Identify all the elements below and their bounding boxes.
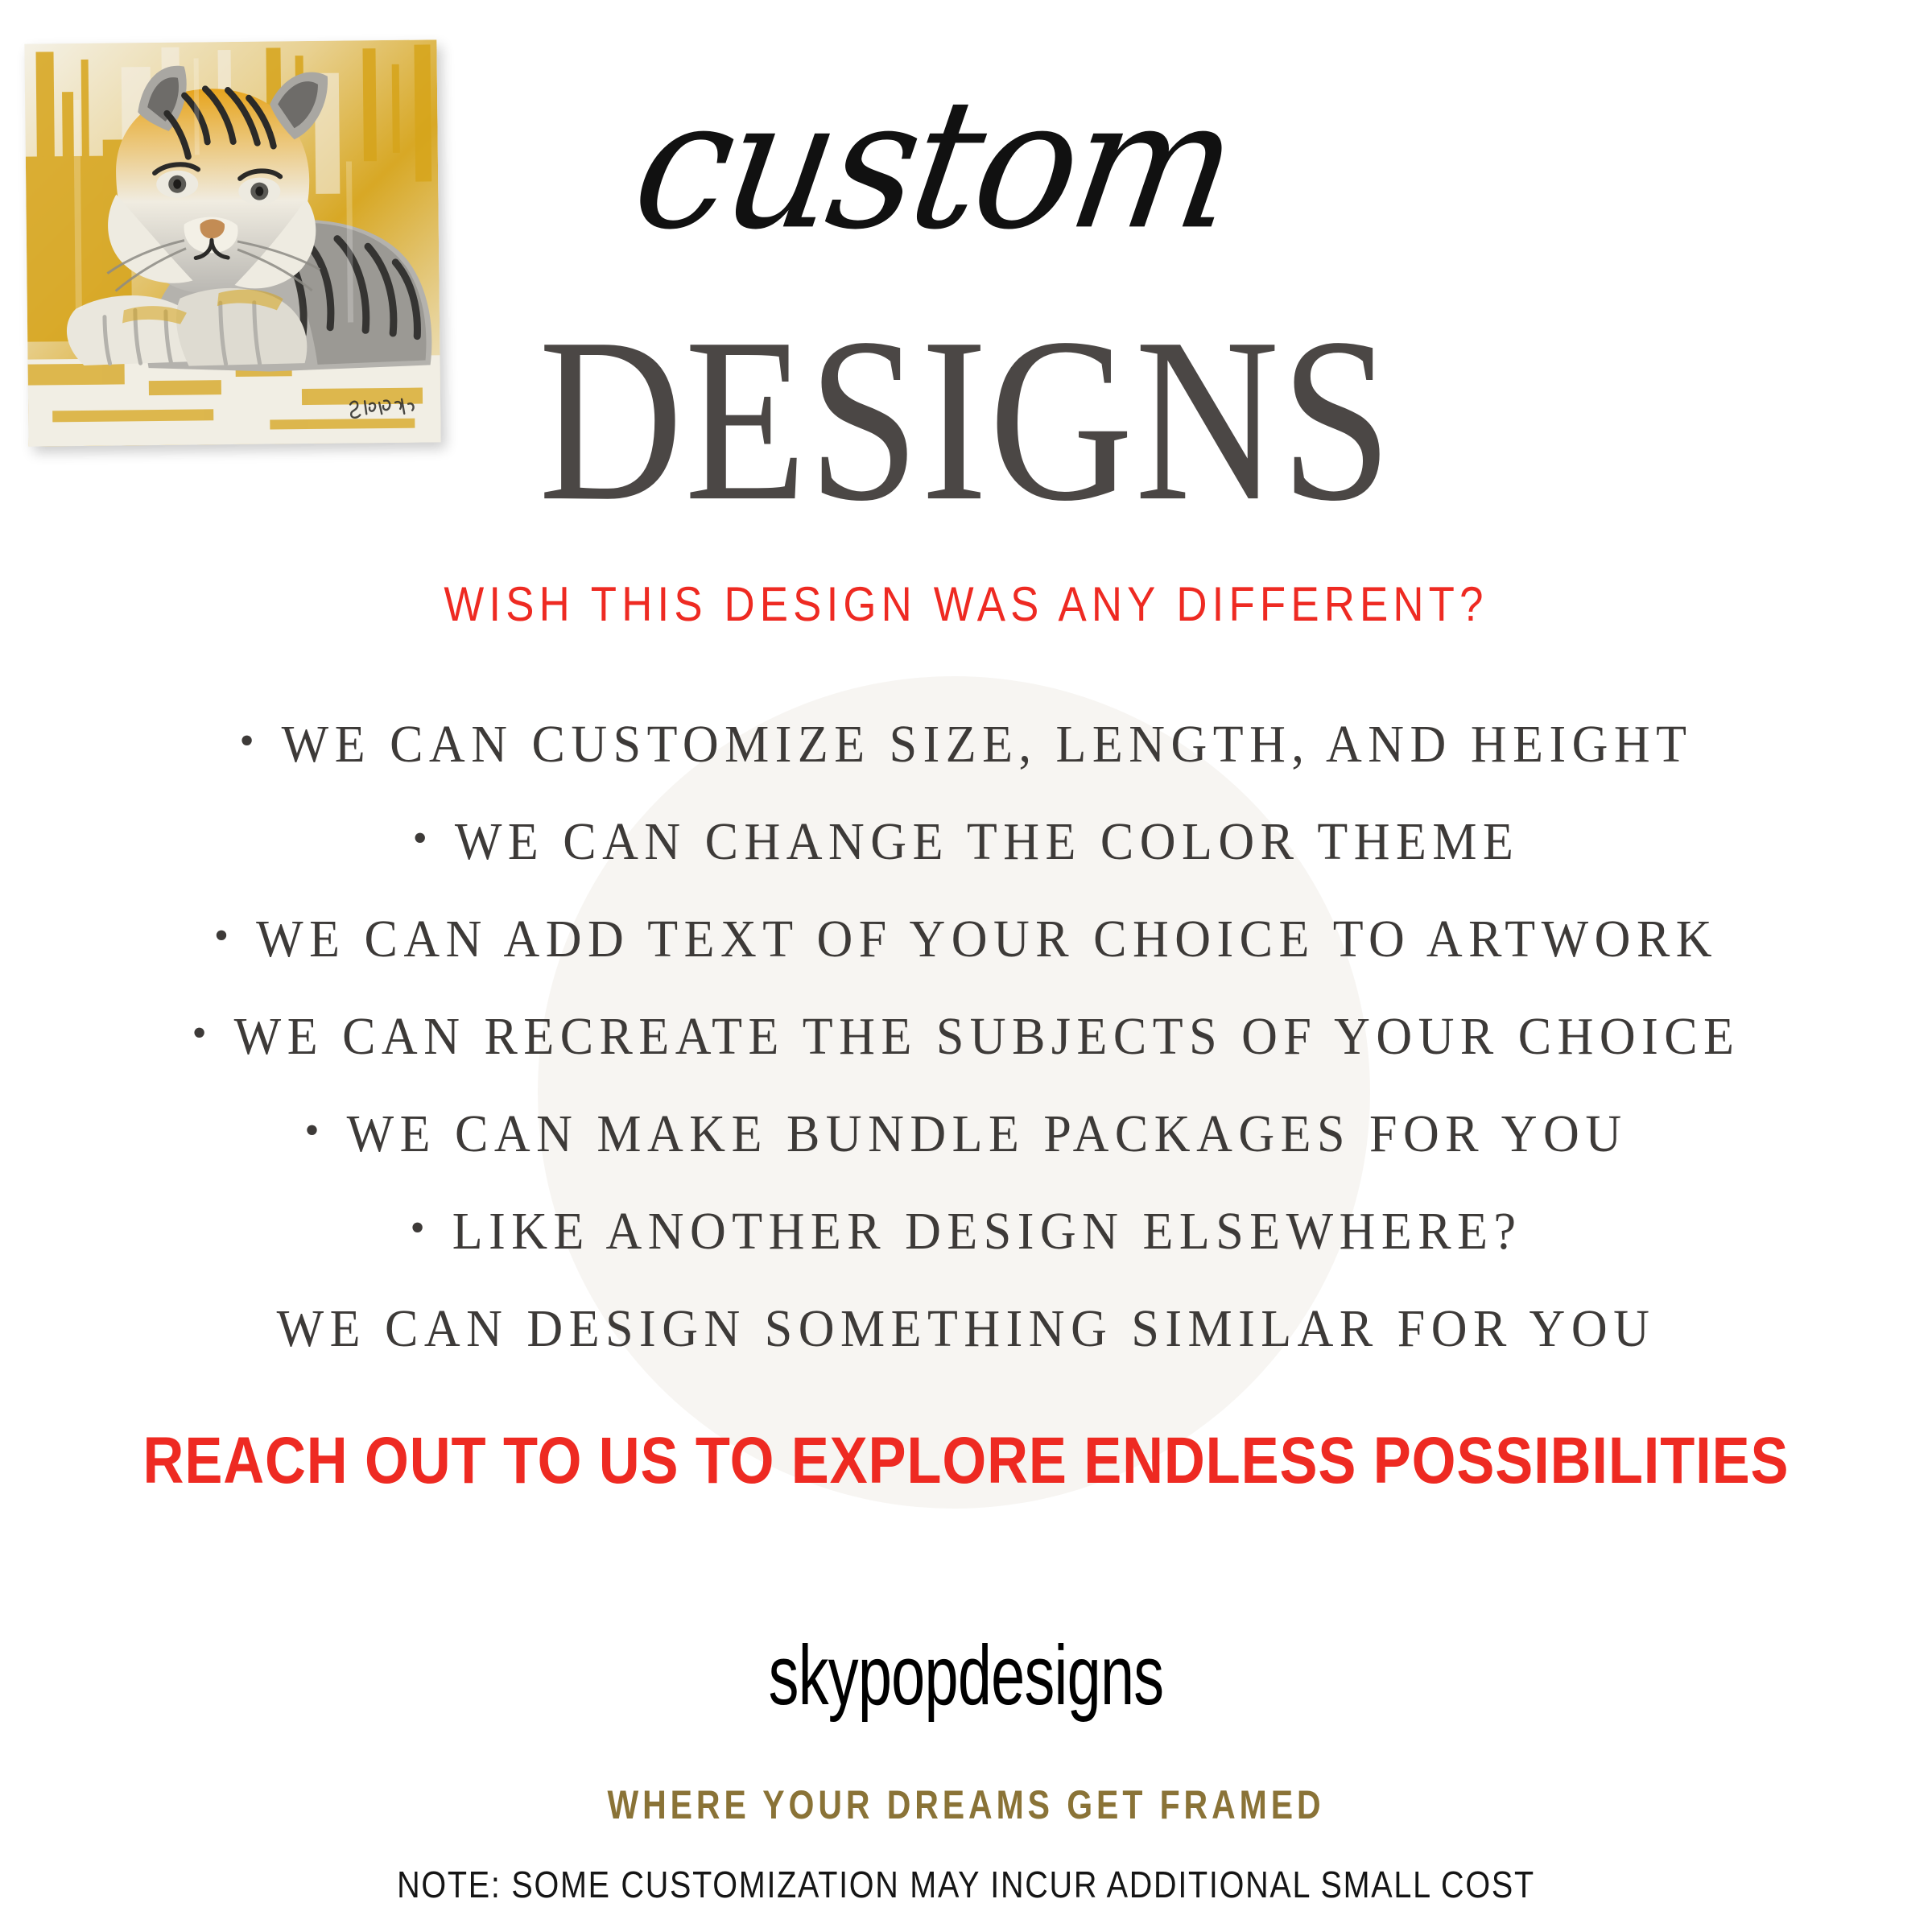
- brand-tagline: WHERE YOUR DREAMS GET FRAMED: [174, 1781, 1758, 1828]
- list-item: • WE CAN ADD TEXT OF YOUR CHOICE TO ARTW…: [0, 911, 1932, 1009]
- footnote-text: NOTE: SOME CUSTOMIZATION MAY INCUR ADDIT…: [135, 1863, 1797, 1906]
- page-title: DESIGNS: [374, 305, 1558, 535]
- list-item: • LIKE ANOTHER DESIGN ELSEWHERE?: [0, 1203, 1932, 1301]
- promo-graphic: custom DESIGNS WISH THIS DESIGN WAS ANY …: [0, 0, 1932, 1932]
- list-item-label: WE CAN MAKE BUNDLE PACKAGES FOR YOU: [347, 1104, 1628, 1165]
- script-headline: custom: [436, 76, 1430, 255]
- call-to-action-text: REACH OUT TO US TO EXPLORE ENDLESS POSSI…: [135, 1423, 1797, 1499]
- subheadline: WISH THIS DESIGN WAS ANY DIFFERENT?: [116, 576, 1816, 632]
- bullet-icon: •: [304, 1110, 319, 1152]
- bullet-icon: •: [413, 818, 427, 860]
- brand-logo-text: skypopdesigns: [270, 1628, 1662, 1724]
- list-item-label: WE CAN RECREATE THE SUBJECTS OF YOUR CHO…: [234, 1007, 1740, 1067]
- list-item: • WE CAN CHANGE THE COLOR THEME: [0, 814, 1932, 911]
- list-item: • WE CAN CUSTOMIZE SIZE, LENGTH, AND HEI…: [0, 716, 1932, 814]
- bullet-icon: •: [239, 720, 254, 762]
- bullet-icon: •: [192, 1013, 206, 1055]
- list-item-label: WE CAN ADD TEXT OF YOUR CHOICE TO ARTWOR…: [256, 910, 1718, 970]
- feature-list: • WE CAN CUSTOMIZE SIZE, LENGTH, AND HEI…: [0, 716, 1932, 1398]
- list-item-label: WE CAN DESIGN SOMETHING SIMILAR FOR YOU: [277, 1299, 1656, 1360]
- list-item: • WE CAN MAKE BUNDLE PACKAGES FOR YOU: [0, 1106, 1932, 1203]
- list-item-label: WE CAN CHANGE THE COLOR THEME: [455, 812, 1520, 873]
- list-item: • WE CAN DESIGN SOMETHING SIMILAR FOR YO…: [0, 1301, 1932, 1398]
- list-item-label: LIKE ANOTHER DESIGN ELSEWHERE?: [452, 1202, 1522, 1262]
- list-item-label: WE CAN CUSTOMIZE SIZE, LENGTH, AND HEIGH…: [282, 715, 1693, 775]
- list-item: • WE CAN RECREATE THE SUBJECTS OF YOUR C…: [0, 1009, 1932, 1106]
- bullet-icon: •: [214, 915, 229, 957]
- bullet-icon: •: [411, 1207, 425, 1249]
